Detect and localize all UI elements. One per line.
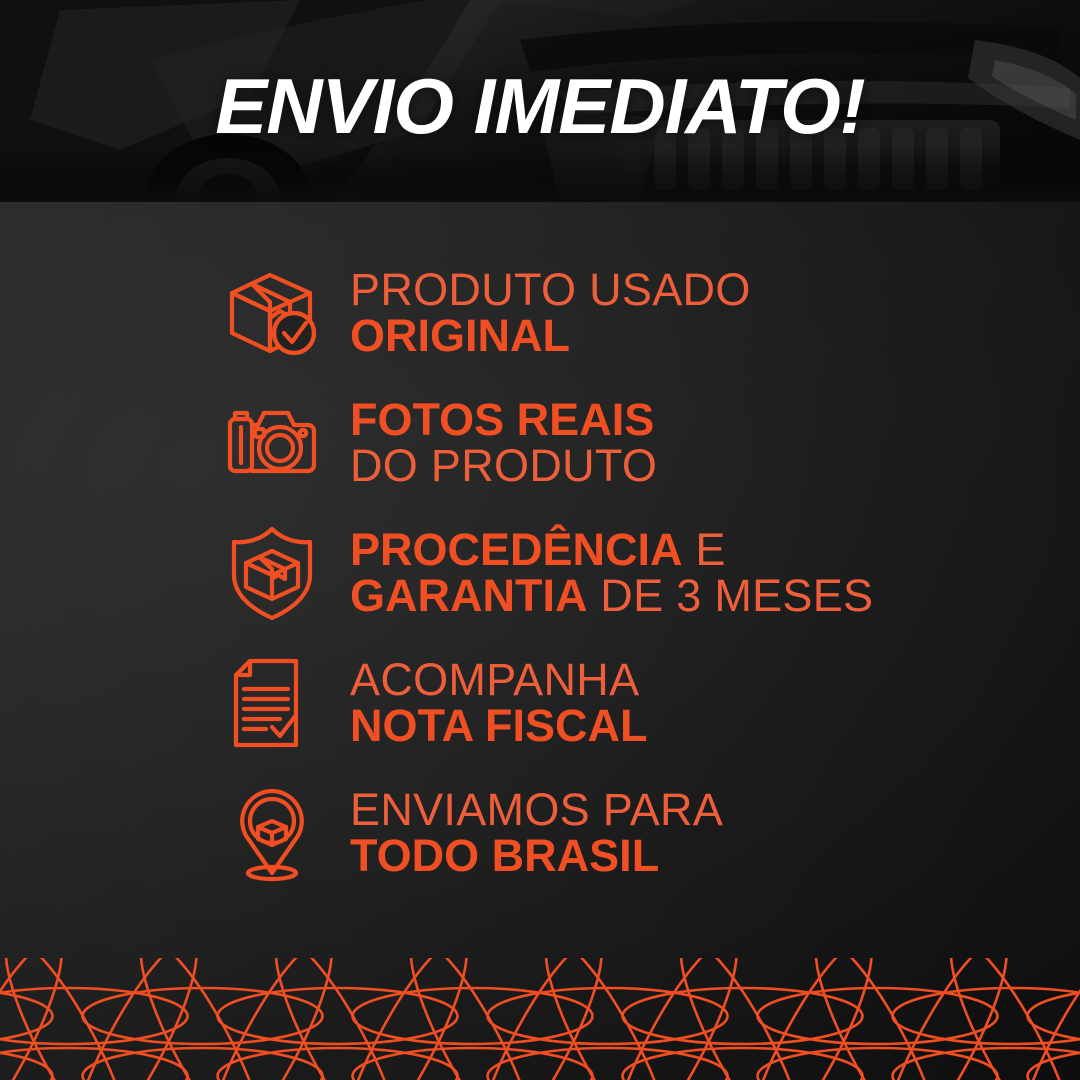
feature-line-1: PRODUTO USADO: [350, 267, 751, 313]
feature-line-1: PROCEDÊNCIA E: [350, 527, 873, 573]
box-check-icon: [222, 263, 322, 363]
map-pin-box-icon: [222, 783, 322, 883]
promo-banner: ENVIO IMEDIATO! PRODUTO USADO: [0, 0, 1080, 1080]
feature-line-2-light: DE 3 MESES: [587, 570, 873, 621]
feature-line-1-light: E: [683, 524, 726, 575]
feature-line-2: GARANTIA DE 3 MESES: [350, 573, 873, 619]
feature-text: FOTOS REAIS DO PRODUTO: [350, 397, 657, 489]
feature-line-1: FOTOS REAIS: [350, 397, 657, 443]
feature-text: ENVIAMOS PARA TODO BRASIL: [350, 787, 723, 879]
list-item: FOTOS REAIS DO PRODUTO: [222, 378, 1080, 508]
page-title: ENVIO IMEDIATO!: [215, 67, 865, 145]
feature-line-1: ACOMPANHA: [350, 657, 647, 703]
feature-text: PRODUTO USADO ORIGINAL: [350, 267, 751, 359]
list-item: ENVIAMOS PARA TODO BRASIL: [222, 768, 1080, 898]
feature-text: ACOMPANHA NOTA FISCAL: [350, 657, 647, 749]
feature-line-1: ENVIAMOS PARA: [350, 787, 723, 833]
feature-list: PRODUTO USADO ORIGINAL FOTOS REAIS: [0, 248, 1080, 898]
list-item: PRODUTO USADO ORIGINAL: [222, 248, 1080, 378]
feature-line-2: NOTA FISCAL: [350, 703, 647, 749]
shield-box-icon: [222, 523, 322, 623]
list-item: ACOMPANHA NOTA FISCAL: [222, 638, 1080, 768]
feature-line-2-bold: GARANTIA: [350, 570, 587, 621]
camera-icon: [222, 393, 322, 493]
header-band: ENVIO IMEDIATO!: [0, 0, 1080, 202]
invoice-document-icon: [222, 653, 322, 753]
feature-line-2: TODO BRASIL: [350, 833, 723, 879]
feature-text: PROCEDÊNCIA E GARANTIA DE 3 MESES: [350, 527, 873, 619]
feature-line-1-bold: PROCEDÊNCIA: [350, 524, 683, 575]
feature-line-2: DO PRODUTO: [350, 443, 657, 489]
feature-line-2: ORIGINAL: [350, 313, 751, 359]
list-item: PROCEDÊNCIA E GARANTIA DE 3 MESES: [222, 508, 1080, 638]
headline-container: ENVIO IMEDIATO!: [0, 0, 1080, 202]
petal-lattice-border: [0, 958, 1080, 1080]
